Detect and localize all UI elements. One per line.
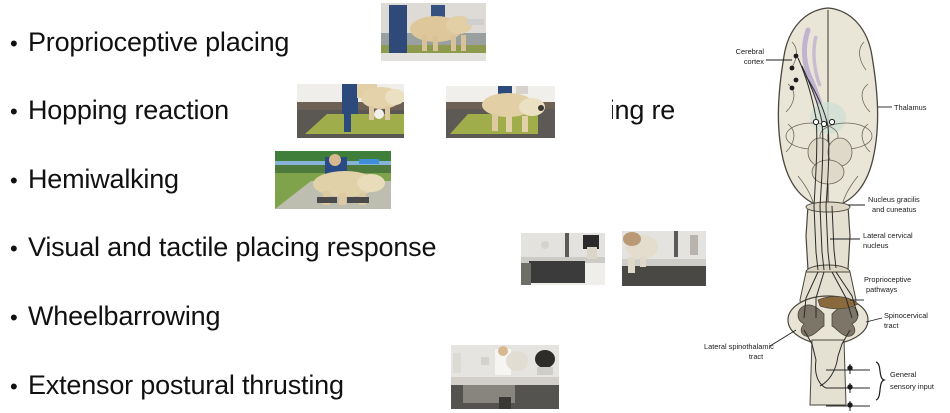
label-line: sensory input bbox=[890, 382, 934, 391]
tactile-placing-photo-2 bbox=[622, 231, 706, 286]
sensory-input-brace-icon bbox=[876, 362, 884, 400]
hopping-reaction-photo-1-image bbox=[297, 84, 404, 138]
spinal-cord-segment bbox=[788, 265, 868, 405]
anatomy-label-lateral-spinothalamic-tract: Lateral spinothalamic tract bbox=[704, 342, 774, 361]
bullet-item-extensor-postural-thrusting: • Extensor postural thrusting bbox=[10, 370, 344, 401]
bullet-label: Wheelbarrowing bbox=[28, 301, 220, 332]
bullet-label: Hemiwalking bbox=[28, 164, 179, 195]
bullet-marker-icon: • bbox=[10, 170, 28, 192]
bullet-item-hopping-reaction-occluded-tail: Hopping reaction bbox=[612, 95, 674, 126]
bullet-label: Extensor postural thrusting bbox=[28, 370, 344, 401]
label-line: Lateral cervical bbox=[863, 231, 913, 240]
hopping-reaction-photo-1 bbox=[297, 84, 404, 138]
bullet-item-wheelbarrowing: • Wheelbarrowing bbox=[10, 301, 220, 332]
sensory-receptor-icons bbox=[848, 364, 852, 411]
anatomy-label-spinocervical-tract: Spinocervical tract bbox=[884, 311, 928, 330]
brainstem-shape bbox=[806, 202, 850, 270]
label-line: Spinocervical bbox=[884, 311, 928, 320]
bullet-marker-icon: • bbox=[10, 33, 28, 55]
proprioceptive-placing-photo-image bbox=[381, 3, 486, 61]
bullet-item-hemiwalking: • Hemiwalking bbox=[10, 164, 179, 195]
bullet-label: Hopping reaction bbox=[28, 95, 229, 126]
extensor-postural-thrusting-photo-image bbox=[451, 345, 559, 409]
bullet-marker-icon: • bbox=[10, 307, 28, 329]
label-line: tract bbox=[884, 321, 898, 330]
bullet-item-hopping-reaction: • Hopping reaction bbox=[10, 95, 229, 126]
label-line: General bbox=[890, 370, 917, 379]
hemiwalking-photo-image bbox=[275, 151, 391, 209]
bullet-label: Proprioceptive placing bbox=[28, 27, 289, 58]
hopping-reaction-photo-2-image bbox=[446, 86, 555, 138]
anatomy-label-cerebral-cortex: Cerebral cortex bbox=[736, 47, 765, 66]
anatomy-label-lateral-cervical-nucleus: Lateral cervical nucleus bbox=[863, 231, 913, 250]
label-line: Thalamus bbox=[894, 103, 927, 112]
hopping-reaction-photo-2 bbox=[446, 86, 555, 138]
anatomy-label-proprioceptive-pathways: Proprioceptive pathways bbox=[864, 275, 911, 294]
proprioceptive-placing-photo bbox=[381, 3, 486, 61]
bullet-item-visual-and-tactile-placing-response: • Visual and tactile placing response bbox=[10, 232, 436, 263]
bullet-marker-icon: • bbox=[10, 238, 28, 260]
label-line: Cerebral bbox=[736, 47, 765, 56]
proprioceptive-pathways-diagram: Cerebral cortex Thalamus Nucleus gracili… bbox=[700, 0, 950, 413]
tactile-placing-photo-2-image bbox=[622, 231, 706, 286]
bullet-item-proprioceptive-placing: • Proprioceptive placing bbox=[10, 27, 289, 58]
label-line: cortex bbox=[744, 57, 764, 66]
visual-placing-photo-1 bbox=[521, 233, 605, 285]
label-line: Lateral spinothalamic bbox=[704, 342, 774, 351]
anatomy-label-thalamus: Thalamus bbox=[894, 103, 927, 112]
visual-placing-photo-1-image bbox=[521, 233, 605, 285]
label-line: tract bbox=[749, 352, 763, 361]
label-line: nucleus bbox=[863, 241, 889, 250]
proprioceptive-pathways-diagram-image: Cerebral cortex Thalamus Nucleus gracili… bbox=[700, 0, 950, 413]
label-line: and cuneatus bbox=[872, 205, 917, 214]
anatomy-label-general-sensory-input: General sensory input bbox=[890, 370, 934, 391]
label-line: pathways bbox=[866, 285, 898, 294]
label-line: Proprioceptive bbox=[864, 275, 911, 284]
anatomy-label-nucleus-gracilis-and-cuneatus: Nucleus gracilis and cuneatus bbox=[868, 195, 920, 214]
hemiwalking-photo bbox=[275, 151, 391, 209]
bullet-label: Visual and tactile placing response bbox=[28, 232, 436, 263]
bullet-label: Hopping reaction bbox=[612, 95, 674, 126]
bullet-marker-icon: • bbox=[10, 101, 28, 123]
bullet-marker-icon: • bbox=[10, 376, 28, 398]
label-line: Nucleus gracilis bbox=[868, 195, 920, 204]
extensor-postural-thrusting-photo bbox=[451, 345, 559, 409]
slide-canvas: • Proprioceptive placing • Hopping react… bbox=[0, 0, 950, 413]
